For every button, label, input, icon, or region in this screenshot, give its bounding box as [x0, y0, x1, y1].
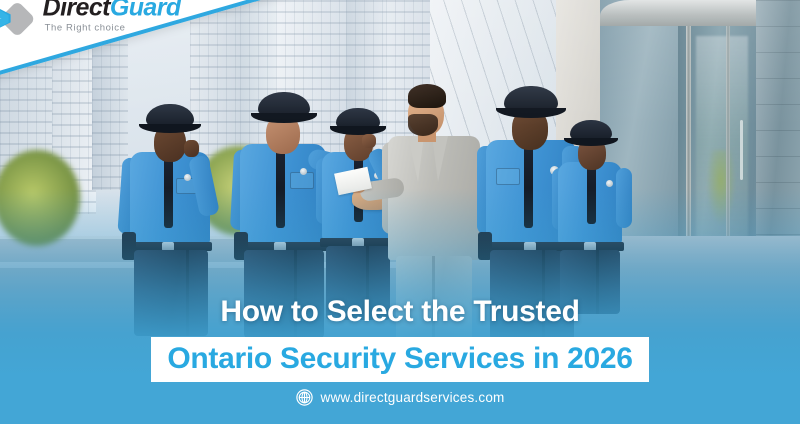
brand-name-part2: Guard [110, 0, 181, 21]
guard-badge-icon [606, 180, 613, 187]
businessman-beard [408, 114, 438, 136]
guard-trousers [560, 250, 620, 314]
guard-trousers [244, 250, 324, 338]
suit-lapel [432, 136, 448, 182]
guard-badge-icon [184, 174, 191, 181]
blog-banner: DirectGuard The Right choice How to Sele… [0, 0, 800, 424]
guard-necktie [587, 166, 596, 224]
guard-necktie [164, 156, 173, 228]
guard-arm [616, 168, 632, 228]
door-tree-reflection [706, 150, 736, 226]
hero-photo [0, 0, 800, 424]
brand-wordmark: DirectGuard [43, 0, 181, 22]
door-handle [740, 120, 743, 180]
suit-lapel [408, 136, 424, 182]
guard-cap [146, 104, 194, 130]
uniform-pocket [496, 168, 520, 185]
trouser-seam [542, 250, 545, 340]
website-url-text[interactable]: www.directguardservices.com [321, 390, 505, 405]
globe-icon [296, 389, 313, 406]
trouser-seam [366, 246, 369, 320]
guard-trousers [134, 250, 208, 336]
trouser-seam [294, 250, 297, 338]
guard-cap [336, 108, 380, 132]
guard-necktie [524, 144, 533, 228]
guard-badge-icon [300, 168, 307, 175]
logo-lockup[interactable]: DirectGuard The Right choice [0, 0, 227, 63]
businessman-hair [408, 84, 446, 108]
trouser-seam [186, 250, 189, 336]
brand-tagline: The Right choice [45, 22, 126, 33]
guard-hand [362, 134, 376, 148]
guard-hand [184, 140, 199, 157]
security-guard [556, 120, 638, 310]
guard-necktie [276, 148, 285, 228]
trouser-seam [596, 250, 599, 314]
website-url-row[interactable]: www.directguardservices.com [0, 389, 800, 406]
chevron-arrow-logo-icon [0, 0, 35, 41]
trouser-seam [432, 256, 435, 342]
guard-trousers [326, 246, 390, 320]
guard-cap [570, 120, 612, 143]
security-guard [118, 104, 228, 334]
guard-cap [504, 86, 558, 115]
guard-cap [258, 92, 310, 120]
brand-name-part1: Direct [43, 0, 110, 21]
